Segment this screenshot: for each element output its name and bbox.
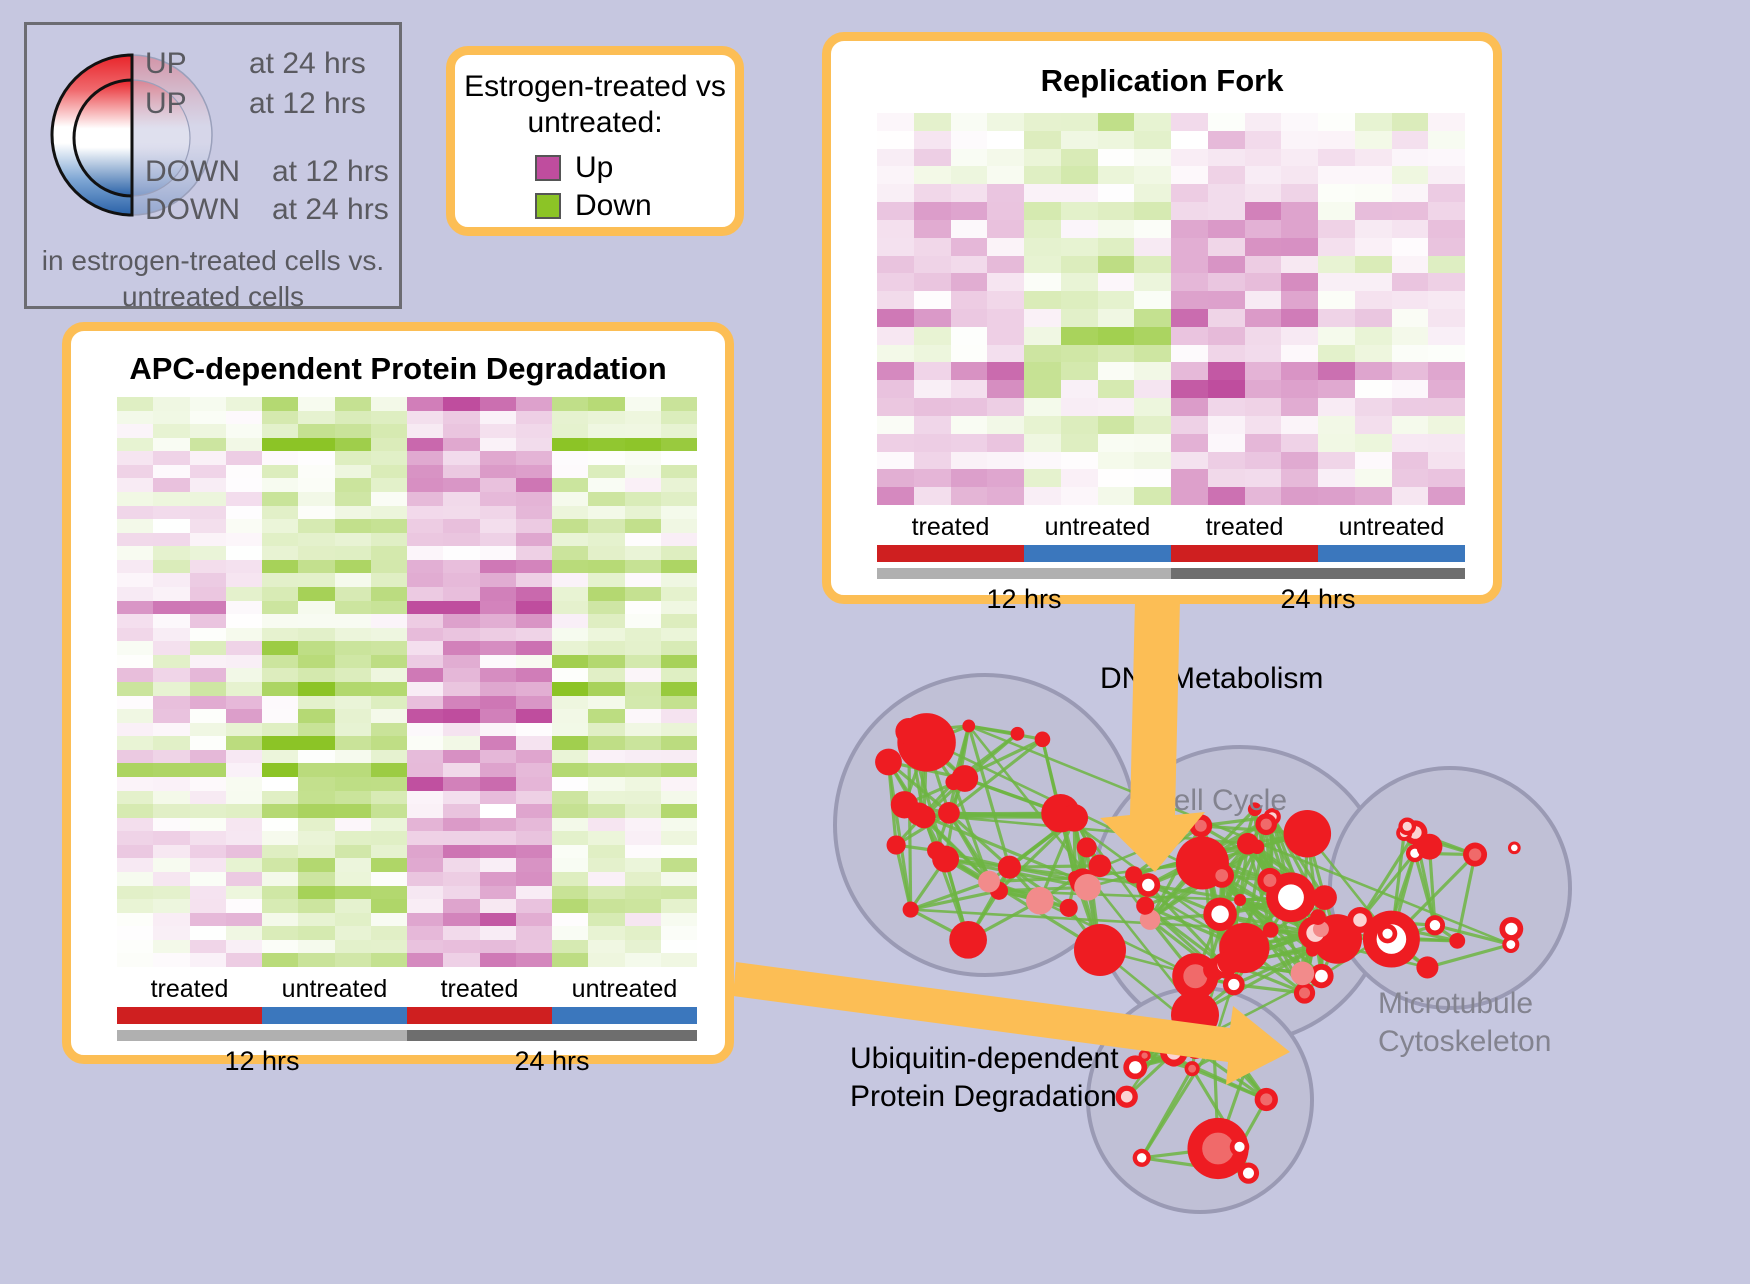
heatmap-cell [552, 655, 588, 669]
heatmap-cell [480, 601, 516, 615]
heatmap-cell [117, 424, 153, 438]
heatmap-cell [226, 668, 262, 682]
heatmap-cell [588, 533, 624, 547]
heatmap-cell [1428, 309, 1465, 327]
heatmap-cell [262, 750, 298, 764]
heatmap-cell [443, 831, 479, 845]
apc-untreated-bar-12 [262, 1007, 407, 1024]
heatmap-cell [1171, 398, 1208, 416]
heatmap-cell [1134, 309, 1171, 327]
heatmap-cell [661, 668, 697, 682]
heatmap-cell [1392, 345, 1429, 363]
heatmap-cell [407, 886, 443, 900]
heatmap-cell [1061, 291, 1098, 309]
heatmap-cell [226, 411, 262, 425]
heatmap-cell [262, 872, 298, 886]
heatmap-cell [1355, 416, 1392, 434]
heatmap-cell [877, 327, 914, 345]
heatmap-cell [335, 804, 371, 818]
heatmap-cell [1061, 273, 1098, 291]
heatmap-cell [1392, 220, 1429, 238]
heatmap-cell [516, 465, 552, 479]
heatmap-cell [190, 397, 226, 411]
heatmap-cell [1318, 380, 1355, 398]
heatmap-cell [262, 858, 298, 872]
heatmap-cell [1098, 434, 1135, 452]
heatmap-cell [625, 519, 661, 533]
heatmap-cell [588, 411, 624, 425]
heatmap-cell [371, 736, 407, 750]
heatmap-cell [1171, 309, 1208, 327]
heatmap-cell [1392, 362, 1429, 380]
heatmap-cell [226, 913, 262, 927]
heatmap-cell [407, 533, 443, 547]
heatmap-cell [335, 682, 371, 696]
heatmap-cell [1024, 256, 1061, 274]
heatmap-cell [1355, 452, 1392, 470]
heatmap-cell [298, 546, 334, 560]
heatmap-cell [1428, 380, 1465, 398]
heatmap-cell [298, 696, 334, 710]
heatmap-cell [1355, 345, 1392, 363]
heatmap-cell [661, 506, 697, 520]
heatmap-cell [1245, 416, 1282, 434]
heatmap-cell [1061, 309, 1098, 327]
heatmap-cell [1134, 345, 1171, 363]
heatmap-cell [552, 668, 588, 682]
heatmap-cell [1134, 166, 1171, 184]
heatmap-cell [480, 913, 516, 927]
heatmap-cell [117, 438, 153, 452]
heatmap-cell [371, 601, 407, 615]
replication-fork-panel: Replication Fork treated untreated treat… [822, 32, 1502, 604]
heatmap-cell [371, 465, 407, 479]
heatmap-cell [117, 628, 153, 642]
heatmap-cell [552, 899, 588, 913]
heatmap-cell [1318, 362, 1355, 380]
heatmap-cell [1281, 434, 1318, 452]
heatmap-cell [588, 845, 624, 859]
rep-treated-bar-12 [877, 545, 1024, 562]
heatmap-cell [335, 926, 371, 940]
heatmap-cell [1428, 291, 1465, 309]
network-node [1125, 866, 1142, 883]
network-node [895, 718, 922, 745]
heatmap-cell [443, 546, 479, 560]
heatmap-cell [226, 587, 262, 601]
heatmap-cell [1134, 487, 1171, 505]
heatmap-cell [877, 362, 914, 380]
heatmap-cell [987, 416, 1024, 434]
heatmap-cell [190, 953, 226, 967]
heatmap-cell [153, 940, 189, 954]
heatmap-cell [1171, 202, 1208, 220]
heatmap-cell [1428, 398, 1465, 416]
rep-treated-bar-24 [1171, 545, 1318, 562]
heatmap-cell [1318, 113, 1355, 131]
heatmap-cell [625, 546, 661, 560]
heatmap-cell [552, 506, 588, 520]
heatmap-cell [371, 628, 407, 642]
heatmap-cell [371, 926, 407, 940]
heatmap-cell [335, 519, 371, 533]
heatmap-cell [552, 818, 588, 832]
heatmap-cell [262, 655, 298, 669]
apc-treated-bar-12 [117, 1007, 262, 1024]
network-node [1074, 924, 1126, 976]
heatmap-cell [335, 899, 371, 913]
heatmap-cell [661, 424, 697, 438]
heatmap-cell [371, 492, 407, 506]
heatmap-cell [516, 506, 552, 520]
heatmap-cell [298, 668, 334, 682]
network-node [1035, 732, 1051, 748]
heatmap-cell [262, 723, 298, 737]
heatmap-cell [153, 831, 189, 845]
heatmap-cell [552, 397, 588, 411]
heatmap-cell [987, 113, 1024, 131]
heatmap-cell [661, 736, 697, 750]
heatmap-cell [443, 655, 479, 669]
heatmap-cell [516, 899, 552, 913]
heatmap-cell [661, 655, 697, 669]
heatmap-cell [1024, 309, 1061, 327]
heatmap-cell [1171, 362, 1208, 380]
heatmap-cell [371, 614, 407, 628]
heatmap-cell [625, 601, 661, 615]
heatmap-cell [1098, 327, 1135, 345]
heatmap-cell [117, 709, 153, 723]
heatmap-cell [153, 818, 189, 832]
heatmap-cell [298, 723, 334, 737]
heatmap-cell [407, 641, 443, 655]
heatmap-cell [117, 872, 153, 886]
heatmap-cell [625, 506, 661, 520]
heatmap-cell [298, 492, 334, 506]
heatmap-cell [1061, 149, 1098, 167]
heatmap-cell [480, 858, 516, 872]
heatmap-cell [1355, 380, 1392, 398]
heatmap-cell [480, 763, 516, 777]
heatmap-cell [552, 614, 588, 628]
heatmap-cell [226, 438, 262, 452]
heatmap-cell [625, 899, 661, 913]
heatmap-cell [407, 614, 443, 628]
heatmap-cell [1355, 434, 1392, 452]
heatmap-cell [625, 886, 661, 900]
heatmap-cell [1171, 149, 1208, 167]
heatmap-cell [1245, 202, 1282, 220]
heatmap-cell [262, 845, 298, 859]
heatmap-cell [1171, 327, 1208, 345]
heatmap-cell [1318, 398, 1355, 416]
heatmap-cell [371, 560, 407, 574]
heatmap-cell [914, 273, 951, 291]
network-node [1243, 1043, 1261, 1061]
heatmap-cell [407, 899, 443, 913]
heatmap-cell [877, 434, 914, 452]
heatmap-cell [1281, 256, 1318, 274]
heatmap-cell [1428, 345, 1465, 363]
heatmap-cell [1281, 416, 1318, 434]
heatmap-cell [552, 886, 588, 900]
heatmap-cell [1134, 273, 1171, 291]
heatmap-cell [588, 750, 624, 764]
heatmap-cell [1392, 291, 1429, 309]
heatmap-cell [1318, 416, 1355, 434]
heatmap-cell [407, 506, 443, 520]
heatmap-cell [262, 560, 298, 574]
heatmap-cell [1208, 291, 1245, 309]
heatmap-cell [1171, 166, 1208, 184]
heatmap-cell [407, 777, 443, 791]
heatmap-cell [262, 899, 298, 913]
heatmap-cell [1171, 487, 1208, 505]
heatmap-cell [153, 858, 189, 872]
heatmap-cell [262, 438, 298, 452]
heatmap-cell [661, 492, 697, 506]
heatmap-cell [371, 506, 407, 520]
heatmap-cell [371, 696, 407, 710]
heatmap-cell [1428, 469, 1465, 487]
heatmap-cell [552, 628, 588, 642]
heatmap-cell [335, 451, 371, 465]
heatmap-cell [480, 872, 516, 886]
heatmap-cell [987, 327, 1024, 345]
heatmap-cell [1355, 202, 1392, 220]
heatmap-cell [1061, 345, 1098, 363]
heatmap-cell [153, 872, 189, 886]
heatmap-cell [552, 587, 588, 601]
heatmap-cell [298, 601, 334, 615]
heatmap-cell [335, 397, 371, 411]
heatmap-cell [190, 682, 226, 696]
heatmap-cell [1428, 166, 1465, 184]
heatmap-cell [153, 424, 189, 438]
heatmap-cell [153, 913, 189, 927]
heatmap-cell [1318, 469, 1355, 487]
heatmap-cell [1318, 452, 1355, 470]
heatmap-cell [407, 587, 443, 601]
heatmap-cell [1024, 149, 1061, 167]
heatmap-cell [480, 709, 516, 723]
heatmap-cell [153, 492, 189, 506]
heatmap-cell [226, 777, 262, 791]
heatmap-cell [443, 628, 479, 642]
heatmap-cell [1024, 184, 1061, 202]
heatmap-cell [914, 345, 951, 363]
heatmap-cell [1392, 273, 1429, 291]
heatmap-cell [951, 166, 988, 184]
heatmap-cell [226, 601, 262, 615]
heatmap-cell [335, 913, 371, 927]
heatmap-cell [226, 492, 262, 506]
heatmap-cell [117, 777, 153, 791]
heatmap-cell [1245, 309, 1282, 327]
heatmap-cell [226, 533, 262, 547]
heatmap-cell [226, 736, 262, 750]
heatmap-cell [371, 533, 407, 547]
heatmap-cell [335, 533, 371, 547]
heatmap-cell [987, 469, 1024, 487]
heatmap-cell [588, 872, 624, 886]
heatmap-cell [226, 655, 262, 669]
heatmap-cell [371, 791, 407, 805]
heatmap-cell [443, 573, 479, 587]
heatmap-cell [443, 397, 479, 411]
heatmap-cell [1098, 416, 1135, 434]
heatmap-cell [516, 763, 552, 777]
heatmap-cell [588, 682, 624, 696]
heatmap-cell [443, 478, 479, 492]
heatmap-cell [987, 166, 1024, 184]
heatmap-cell [1245, 327, 1282, 345]
heatmap-cell [1355, 309, 1392, 327]
heatmap-cell [480, 587, 516, 601]
heatmap-cell [1024, 469, 1061, 487]
heatmap-cell [190, 696, 226, 710]
network-node [1502, 936, 1519, 953]
heatmap-cell [443, 587, 479, 601]
heatmap-cell [443, 492, 479, 506]
heatmap-cell [588, 601, 624, 615]
heatmap-cell [298, 614, 334, 628]
up-down-key-card: Estrogen-treated vs untreated: Up Down [446, 46, 744, 236]
heatmap-cell [552, 411, 588, 425]
heatmap-cell [661, 573, 697, 587]
heatmap-cell [588, 628, 624, 642]
heatmap-cell [516, 804, 552, 818]
heatmap-cell [480, 573, 516, 587]
heatmap-cell [516, 940, 552, 954]
heatmap-cell [335, 777, 371, 791]
heatmap-cell [625, 940, 661, 954]
heatmap-cell [588, 858, 624, 872]
heatmap-cell [1208, 149, 1245, 167]
heatmap-cell [625, 736, 661, 750]
heatmap-cell [190, 886, 226, 900]
heatmap-cell [1061, 220, 1098, 238]
network-node [1416, 956, 1438, 978]
heatmap-cell [1061, 469, 1098, 487]
heatmap-cell [1392, 202, 1429, 220]
heatmap-cell [516, 397, 552, 411]
heatmap-cell [1134, 327, 1171, 345]
heatmap-cell [1024, 380, 1061, 398]
heatmap-cell [877, 469, 914, 487]
heatmap-cell [153, 641, 189, 655]
heatmap-cell [1392, 256, 1429, 274]
heatmap-cell [480, 940, 516, 954]
heatmap-cell [516, 573, 552, 587]
heatmap-cell [407, 763, 443, 777]
heatmap-cell [262, 397, 298, 411]
heatmap-cell [1098, 113, 1135, 131]
heatmap-cell [443, 886, 479, 900]
heatmap-cell [625, 587, 661, 601]
heatmap-cell [661, 831, 697, 845]
heatmap-cell [443, 465, 479, 479]
heatmap-cell [661, 641, 697, 655]
heatmap-cell [1318, 166, 1355, 184]
heatmap-cell [407, 845, 443, 859]
heatmap-cell [262, 791, 298, 805]
network-node [1192, 842, 1217, 867]
heatmap-cell [298, 478, 334, 492]
heatmap-cell [480, 899, 516, 913]
heatmap-cell [480, 845, 516, 859]
heatmap-cell [588, 668, 624, 682]
heatmap-cell [516, 913, 552, 927]
heatmap-cell [443, 709, 479, 723]
heatmap-cell [987, 434, 1024, 452]
heatmap-cell [552, 709, 588, 723]
heatmap-cell [516, 709, 552, 723]
heatmap-cell [951, 131, 988, 149]
network-node [1263, 922, 1279, 938]
heatmap-cell [661, 845, 697, 859]
network-node [1417, 834, 1443, 860]
heatmap-cell [335, 601, 371, 615]
heatmap-cell [1428, 220, 1465, 238]
heatmap-cell [407, 831, 443, 845]
heatmap-cell [588, 560, 624, 574]
heatmap-cell [480, 478, 516, 492]
heatmap-cell [987, 238, 1024, 256]
heatmap-cell [625, 668, 661, 682]
apc-degradation-panel: APC-dependent Protein Degradation treate… [62, 322, 734, 1064]
heatmap-cell [190, 560, 226, 574]
heatmap-cell [987, 149, 1024, 167]
heatmap-cell [1098, 202, 1135, 220]
heatmap-cell [153, 397, 189, 411]
heatmap-cell [1318, 434, 1355, 452]
heatmap-cell [480, 655, 516, 669]
heatmap-cell [407, 953, 443, 967]
heatmap-cell [1098, 131, 1135, 149]
heatmap-cell [153, 601, 189, 615]
heatmap-cell [262, 451, 298, 465]
heatmap-cell [625, 777, 661, 791]
heatmap-cell [335, 858, 371, 872]
heatmap-cell [1428, 416, 1465, 434]
heatmap-cell [117, 750, 153, 764]
heatmap-cell [480, 953, 516, 967]
heatmap-cell [1281, 487, 1318, 505]
heatmap-cell [407, 655, 443, 669]
heatmap-cell [1208, 416, 1245, 434]
network-node [1219, 1037, 1242, 1060]
heatmap-cell [298, 791, 334, 805]
heatmap-cell [1208, 434, 1245, 452]
heatmap-cell [661, 411, 697, 425]
heatmap-cell [480, 397, 516, 411]
network-node [1185, 1061, 1200, 1076]
heatmap-cell [1098, 380, 1135, 398]
up-colour-swatch [535, 155, 561, 181]
heatmap-cell [226, 546, 262, 560]
heatmap-cell [407, 913, 443, 927]
heatmap-cell [1281, 273, 1318, 291]
heatmap-cell [516, 438, 552, 452]
heatmap-cell [298, 506, 334, 520]
heatmap-cell [877, 309, 914, 327]
heatmap-cell [335, 411, 371, 425]
heatmap-cell [262, 465, 298, 479]
heatmap-cell [262, 614, 298, 628]
heatmap-cell [625, 913, 661, 927]
heatmap-cell [1245, 469, 1282, 487]
